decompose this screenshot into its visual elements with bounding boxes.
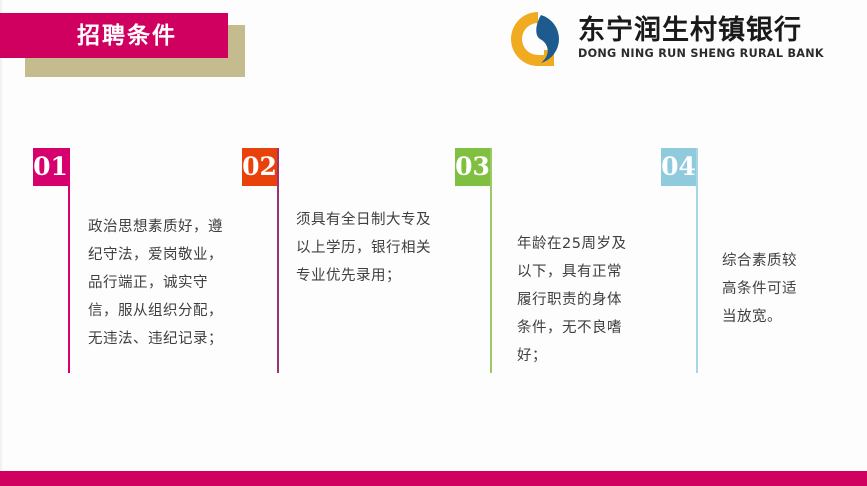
step-connector-line-02 bbox=[277, 148, 279, 373]
step-connector-line-01 bbox=[68, 148, 70, 373]
requirements-list: 01 政治思想素质好，遵纪守法，爱岗敬业，品行端正，诚实守信，服从组织分配，无违… bbox=[0, 0, 867, 486]
requirement-text-04: 综合素质较高条件可适当放宽。 bbox=[722, 247, 802, 331]
requirement-text-03: 年龄在25周岁及以下，具有正常履行职责的身体条件，无不良嗜好； bbox=[517, 230, 627, 370]
step-number-badge-01: 01 bbox=[33, 148, 68, 186]
slide-canvas: 招聘条件 东宁润生村镇银行 DONG NING RUN SHENG RURAL … bbox=[0, 0, 867, 486]
step-connector-line-04 bbox=[696, 148, 698, 373]
step-connector-line-03 bbox=[490, 148, 492, 373]
step-number-badge-02: 02 bbox=[242, 148, 277, 186]
requirement-text-02: 须具有全日制大专及以上学历，银行相关专业优先录用； bbox=[296, 206, 436, 290]
step-number-badge-03: 03 bbox=[455, 148, 490, 186]
requirement-text-01: 政治思想素质好，遵纪守法，爱岗敬业，品行端正，诚实守信，服从组织分配，无违法、违… bbox=[88, 213, 228, 353]
footer-bar bbox=[0, 471, 867, 486]
step-number-badge-04: 04 bbox=[661, 148, 696, 186]
